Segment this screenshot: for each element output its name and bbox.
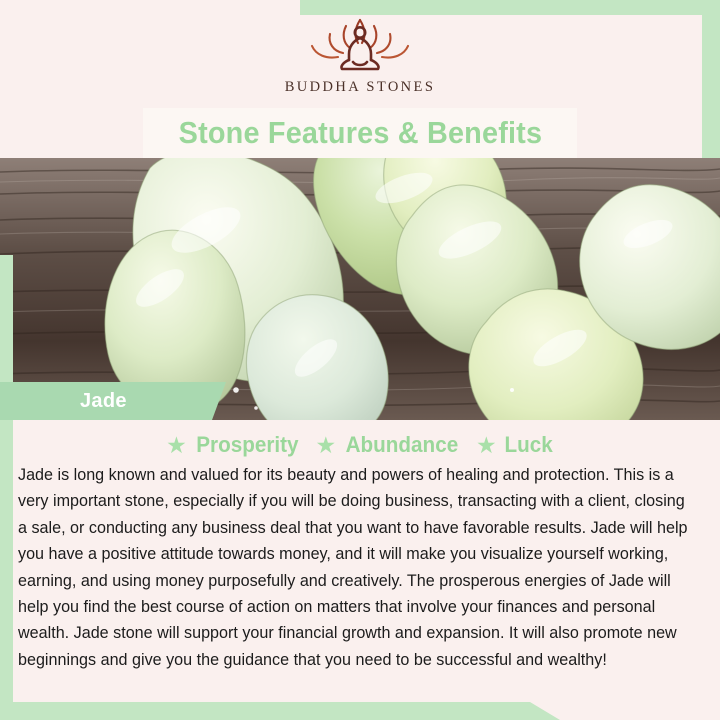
decorative-frame-top-right <box>300 0 720 15</box>
photo-illustration <box>0 158 720 420</box>
benefit-label: Luck <box>504 432 552 458</box>
page-title: Stone Features & Benefits <box>178 115 542 151</box>
benefits-row: ★ Prosperity ★ Abundance ★ Luck <box>0 432 720 458</box>
benefit-item-abundance: ★ Abundance <box>316 432 462 458</box>
star-icon: ★ <box>476 434 497 457</box>
star-icon: ★ <box>166 434 187 457</box>
stone-description-text: Jade is long known and valued for its be… <box>18 462 694 673</box>
star-icon: ★ <box>316 434 337 457</box>
jade-tumbled-stones-photo <box>0 158 720 420</box>
lotus-meditation-icon <box>296 14 424 76</box>
brand-logo-block: BUDDHA STONES <box>0 14 720 108</box>
benefit-label: Prosperity <box>196 432 298 458</box>
benefit-item-luck: ★ Luck <box>476 432 554 458</box>
decorative-frame-bottom <box>0 702 560 720</box>
stone-name-label: Jade <box>0 390 127 413</box>
benefit-item-prosperity: ★ Prosperity <box>166 432 301 458</box>
decorative-frame-left <box>0 255 13 720</box>
title-banner: Stone Features & Benefits <box>143 108 577 158</box>
benefit-label: Abundance <box>346 432 459 458</box>
brand-wordmark: BUDDHA STONES <box>285 79 436 96</box>
photo-caption-band: Jade <box>0 382 226 420</box>
